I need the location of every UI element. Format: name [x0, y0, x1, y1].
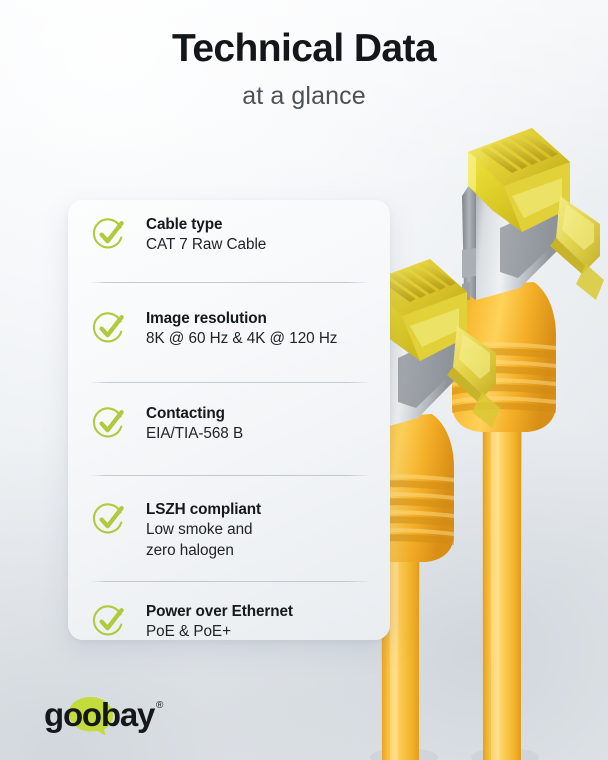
check-circle-icon: [90, 308, 130, 348]
check-circle-icon: [90, 601, 130, 641]
technical-data-infographic: Technical Data at a glance Cable type CA…: [0, 0, 608, 760]
logo-wordmark: goobay: [44, 696, 156, 733]
goobay-logo: goobay ®: [44, 694, 224, 734]
spec-row-contacting: Contacting EIA/TIA-568 B: [90, 382, 376, 475]
page-subtitle: at a glance: [0, 81, 608, 111]
spec-value: EIA/TIA-568 B: [146, 425, 243, 442]
spec-label: Power over Ethernet: [146, 603, 293, 620]
page-header: Technical Data at a glance: [0, 26, 608, 111]
spec-text: Power over Ethernet PoE & PoE+: [146, 601, 376, 642]
spec-label: Image resolution: [146, 310, 267, 327]
spec-row-lszh-compliant: LSZH compliant Low smoke and zero haloge…: [90, 475, 376, 581]
spec-row-cable-type: Cable type CAT 7 Raw Cable: [90, 200, 376, 282]
spec-row-image-resolution: Image resolution 8K @ 60 Hz & 4K @ 120 H…: [90, 282, 376, 382]
spec-text: LSZH compliant Low smoke and zero haloge…: [146, 499, 376, 561]
technical-specs-card: Cable type CAT 7 Raw Cable Image resolut…: [68, 200, 390, 640]
spec-label: LSZH compliant: [146, 501, 261, 518]
page-title: Technical Data: [0, 26, 608, 72]
check-circle-icon: [90, 403, 130, 443]
spec-row-power-over-ethernet: Power over Ethernet PoE & PoE+: [90, 581, 376, 639]
spec-value: PoE & PoE+: [146, 623, 231, 640]
logo-trademark: ®: [156, 700, 164, 711]
spec-label: Cable type: [146, 216, 222, 233]
spec-label: Contacting: [146, 405, 225, 422]
check-circle-icon: [90, 214, 130, 254]
spec-value: CAT 7 Raw Cable: [146, 236, 266, 253]
spec-value: 8K @ 60 Hz & 4K @ 120 Hz: [146, 330, 337, 347]
spec-text: Image resolution 8K @ 60 Hz & 4K @ 120 H…: [146, 308, 376, 349]
spec-text: Contacting EIA/TIA-568 B: [146, 403, 376, 444]
check-circle-icon: [90, 499, 130, 539]
spec-value: Low smoke and zero halogen: [146, 521, 253, 559]
spec-text: Cable type CAT 7 Raw Cable: [146, 214, 376, 255]
